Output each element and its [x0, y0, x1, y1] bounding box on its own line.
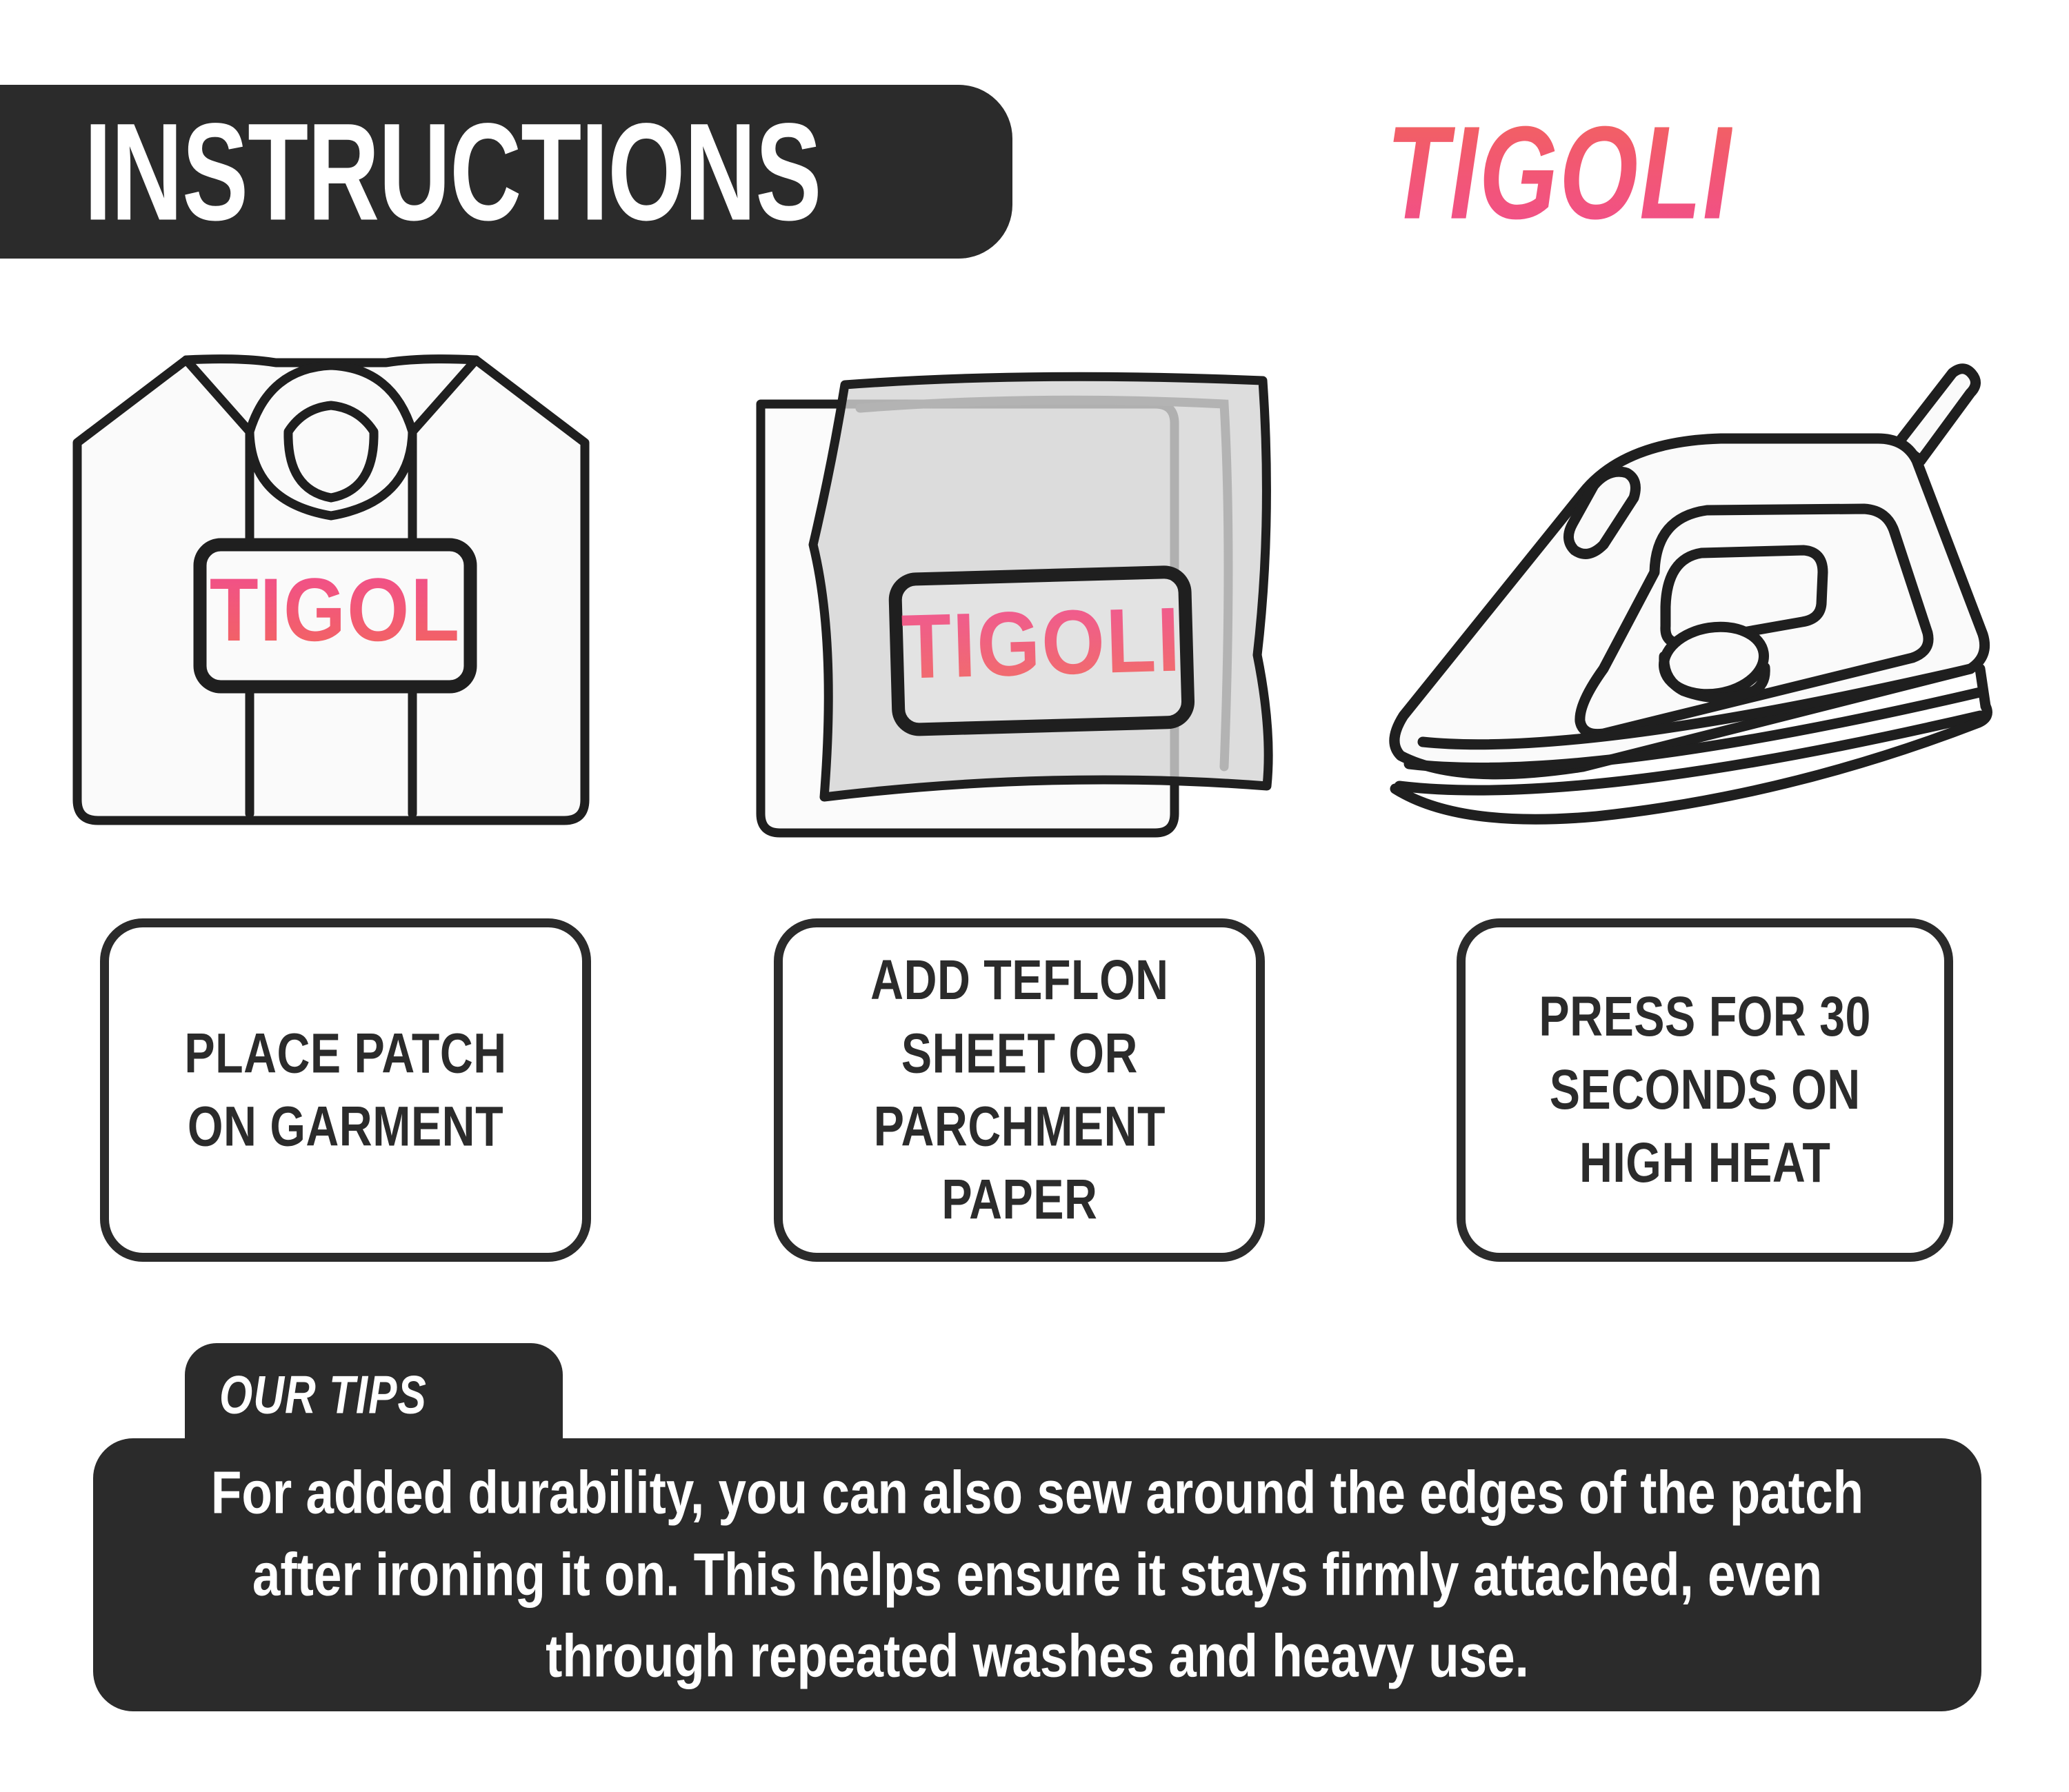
tshirt-illustration: TIGOL [69, 345, 593, 869]
brand-logo: TIGOLI [1386, 97, 1732, 249]
step-2-caption-box: ADD TEFLON SHEET OR PARCHMENT PAPER [774, 918, 1265, 1262]
step-3-caption-text: PRESS FOR 30 SECONDS ON HIGH HEAT [1539, 980, 1870, 1200]
instructions-header-bar: INSTRUCTIONS [0, 85, 1012, 259]
our-tips-tab: OUR TIPS [185, 1343, 563, 1447]
iron-illustration [1376, 345, 2010, 869]
our-tips-body-text: For added durability, you can also sew a… [108, 1452, 1968, 1698]
tshirt-patch-label: TIGOL [210, 561, 461, 661]
our-tips-label: OUR TIPS [219, 1364, 427, 1425]
our-tips-panel: For added durability, you can also sew a… [93, 1438, 1981, 1711]
step-3-caption-box: PRESS FOR 30 SECONDS ON HIGH HEAT [1457, 918, 1953, 1262]
teflon-patch-label: TIGOLI [900, 588, 1182, 698]
page-title: INSTRUCTIONS [84, 92, 821, 252]
step-1-caption-box: PLACE PATCH ON GARMENT [100, 918, 591, 1262]
step-1-caption-text: PLACE PATCH ON GARMENT [184, 1017, 506, 1164]
step-2-caption-text: ADD TEFLON SHEET OR PARCHMENT PAPER [870, 943, 1168, 1236]
teflon-sheet-illustration: TIGOLI [741, 345, 1307, 869]
